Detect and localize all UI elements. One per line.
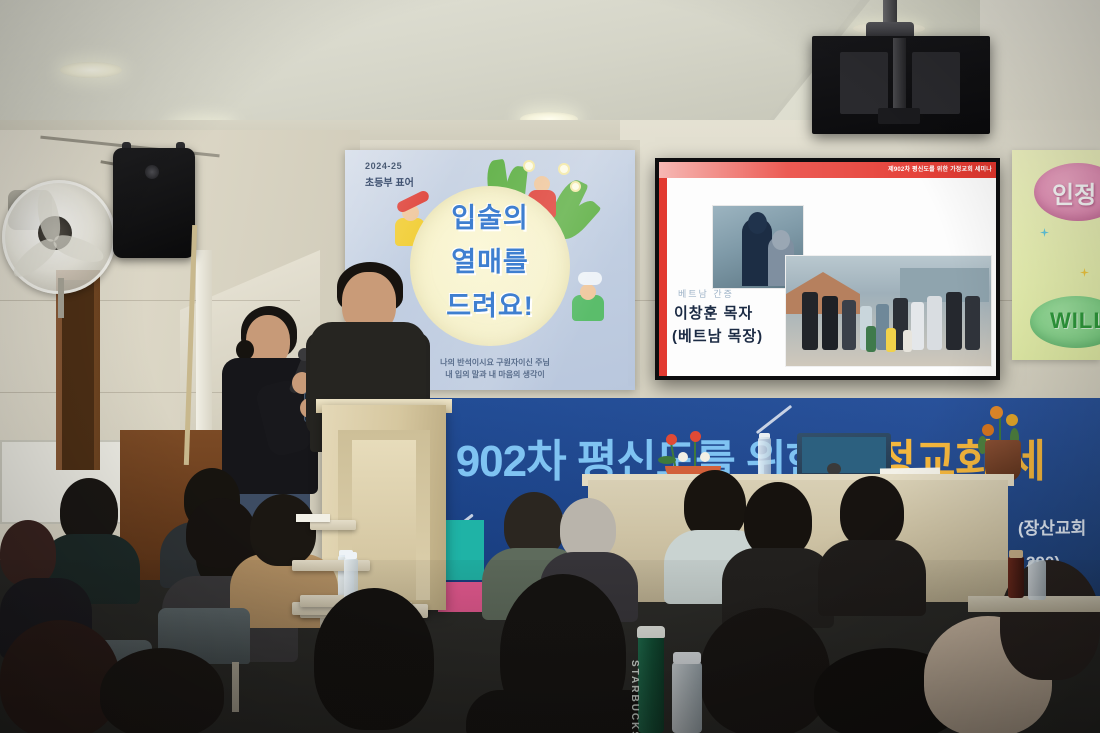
seated-attendee-head xyxy=(250,494,316,566)
flower-head xyxy=(1006,414,1018,426)
photo-child xyxy=(866,326,876,352)
photo-figure xyxy=(822,296,838,350)
tv-vesa-plate-right xyxy=(912,52,960,114)
downlight-1-icon xyxy=(60,62,122,78)
seated-attendee-head xyxy=(186,498,256,568)
slide-speaker-role: (베트남 목장) xyxy=(672,325,763,346)
audience-bottle-cap xyxy=(345,552,357,559)
seated-attendee-head xyxy=(840,476,904,548)
flower-head xyxy=(982,424,994,436)
floor-shadow xyxy=(0,560,1100,733)
poster-year: 2024-25 xyxy=(365,161,402,171)
flower-leaf xyxy=(658,456,676,464)
photo-child xyxy=(886,328,896,352)
photo-figure xyxy=(965,296,980,350)
flower-head xyxy=(990,406,1003,419)
slide-header-text: 제902차 평신도를 위한 가정교회 세미나 xyxy=(860,164,992,173)
banner-subtext-right-1: (장산교회 xyxy=(1018,514,1086,539)
photo-figure xyxy=(927,296,942,350)
photo-figure xyxy=(842,300,856,350)
laptop-screen xyxy=(802,437,886,473)
seated-attendee-head xyxy=(560,498,616,560)
handout-paper xyxy=(296,514,330,522)
flower-head xyxy=(700,452,710,462)
poster-green-bubble-text: WILL xyxy=(1050,308,1100,334)
poster-slogan-line-2: 열매를 xyxy=(410,240,570,279)
speaker-logo-icon xyxy=(145,165,159,179)
fan-pole xyxy=(58,278,64,318)
poster-slogan-line-1: 입술의 xyxy=(410,196,570,235)
slide-speaker-name: 이창훈 목자 xyxy=(674,302,753,323)
flower-head xyxy=(678,452,688,462)
ceiling-slab xyxy=(0,0,860,132)
poster-slogan-wrap: 입술의 열매를 드려요! xyxy=(410,196,570,336)
woman-speaker-hair-bun xyxy=(236,340,254,360)
slide-left-accent-bar xyxy=(659,178,667,376)
photo-scene: 2024-25 초등부 표어 입술의 열매를 드려요! 나의 반석이시요 구원자… xyxy=(0,0,1100,733)
tv-connector-box xyxy=(878,108,920,124)
door-panel[interactable] xyxy=(62,280,94,470)
poster-subtitle: 초등부 표어 xyxy=(365,174,414,189)
photo-figure xyxy=(911,302,924,350)
stair-rail xyxy=(196,250,212,460)
photo-child xyxy=(903,330,912,352)
sauce-bottle-cap xyxy=(1009,550,1023,558)
photo-person-head xyxy=(772,230,790,250)
photo-figure xyxy=(946,292,962,350)
tv-vesa-plate-left xyxy=(840,52,888,114)
wall-seam-1 xyxy=(0,300,300,301)
photo-figure xyxy=(802,292,818,350)
poster-slogan-line-3: 드려요! xyxy=(410,284,570,323)
poster-pink-bubble-text: 인정 xyxy=(1052,175,1096,210)
flower-stem xyxy=(694,438,696,468)
slide-caption: 베트남 간증 xyxy=(678,287,734,300)
seated-attendee-head xyxy=(744,482,812,558)
flower-head xyxy=(690,431,701,442)
photo-person-head xyxy=(748,212,767,234)
flower-head xyxy=(666,434,677,445)
